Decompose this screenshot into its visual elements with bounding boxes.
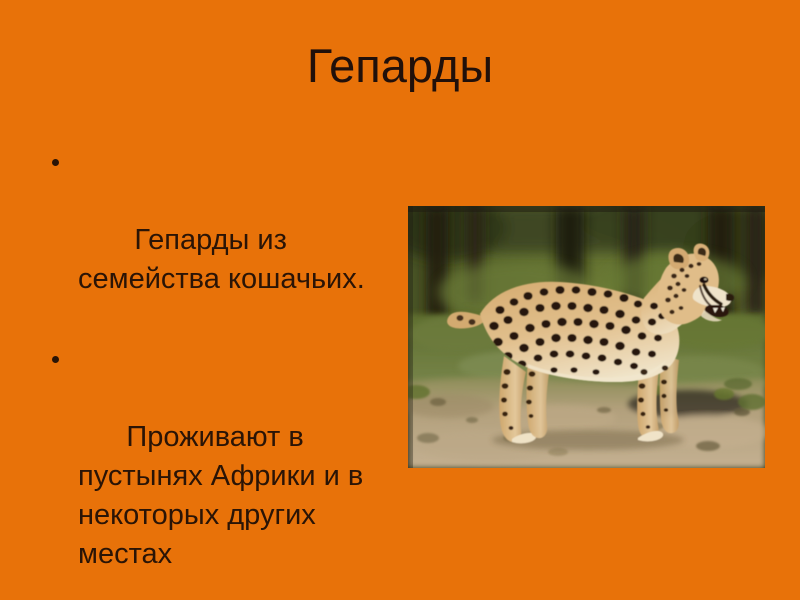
list-item-label: Гепарды из семейства кошачьих. xyxy=(78,224,365,295)
bullet-dot-icon xyxy=(52,356,59,363)
bullet-dot-icon xyxy=(52,159,59,166)
cheetah-photo-illustration xyxy=(408,206,765,468)
bullet-list: Гепарды из семейства кошачьих. Проживают… xyxy=(42,143,402,600)
page-title: Гепарды xyxy=(0,42,800,89)
list-item: Гепарды из семейства кошачьих. xyxy=(42,143,402,338)
presentation-slide: Гепарды Гепарды из семейства кошачьих. П… xyxy=(0,0,800,600)
cheetah-photo xyxy=(408,206,765,468)
list-item: Проживают в пустынях Африки и в некоторы… xyxy=(42,340,402,600)
list-item-label: Проживают в пустынях Африки и в некоторы… xyxy=(78,421,371,570)
